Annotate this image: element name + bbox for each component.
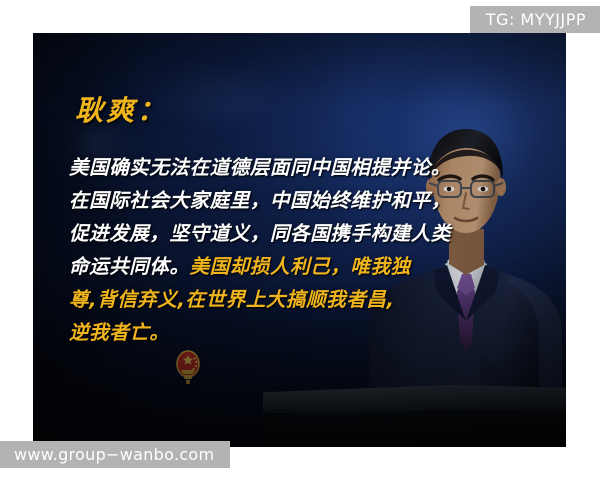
quote-line: 尊,背信弃义,在世界上大搞顺我者昌, <box>69 283 455 316</box>
quote-line: 逆我者亡。 <box>69 316 455 349</box>
quote-segment-highlight: 尊,背信弃义,在世界上大搞顺我者昌, <box>69 288 395 311</box>
quote-segment: 在国际社会大家庭里，中国始终维护和平， <box>69 189 451 212</box>
quote-text-block: 美国确实无法在道德层面同中国相提并论。 在国际社会大家庭里，中国始终维护和平， … <box>69 151 455 349</box>
image-canvas: 耿爽： 美国确实无法在道德层面同中国相提并论。 在国际社会大家庭里，中国始终维护… <box>0 0 600 480</box>
quote-line: 促进发展，坚守道义，同各国携手构建人类 <box>69 217 455 250</box>
quote-overlay: 耿爽： 美国确实无法在道德层面同中国相提并论。 在国际社会大家庭里，中国始终维护… <box>55 96 455 349</box>
quote-segment: 命运共同体。 <box>69 255 190 278</box>
quote-line: 美国确实无法在道德层面同中国相提并论。 <box>69 151 455 184</box>
quote-line: 在国际社会大家庭里，中国始终维护和平， <box>69 184 455 217</box>
speaker-name: 耿爽： <box>75 96 455 127</box>
quote-segment-highlight: 美国却损人利己，唯我独 <box>190 255 411 278</box>
quote-card-photo: 耿爽： 美国确实无法在道德层面同中国相提并论。 在国际社会大家庭里，中国始终维护… <box>33 33 566 447</box>
quote-segment: 促进发展，坚守道义，同各国携手构建人类 <box>69 222 451 245</box>
quote-segment-highlight: 逆我者亡。 <box>69 321 170 344</box>
watermark-top-right: TG: MYYJJPP <box>470 6 600 33</box>
watermark-bottom-left: www.group−wanbo.com <box>0 441 230 468</box>
quote-line: 命运共同体。美国却损人利己，唯我独 <box>69 250 455 283</box>
quote-segment: 美国确实无法在道德层面同中国相提并论。 <box>69 156 451 179</box>
